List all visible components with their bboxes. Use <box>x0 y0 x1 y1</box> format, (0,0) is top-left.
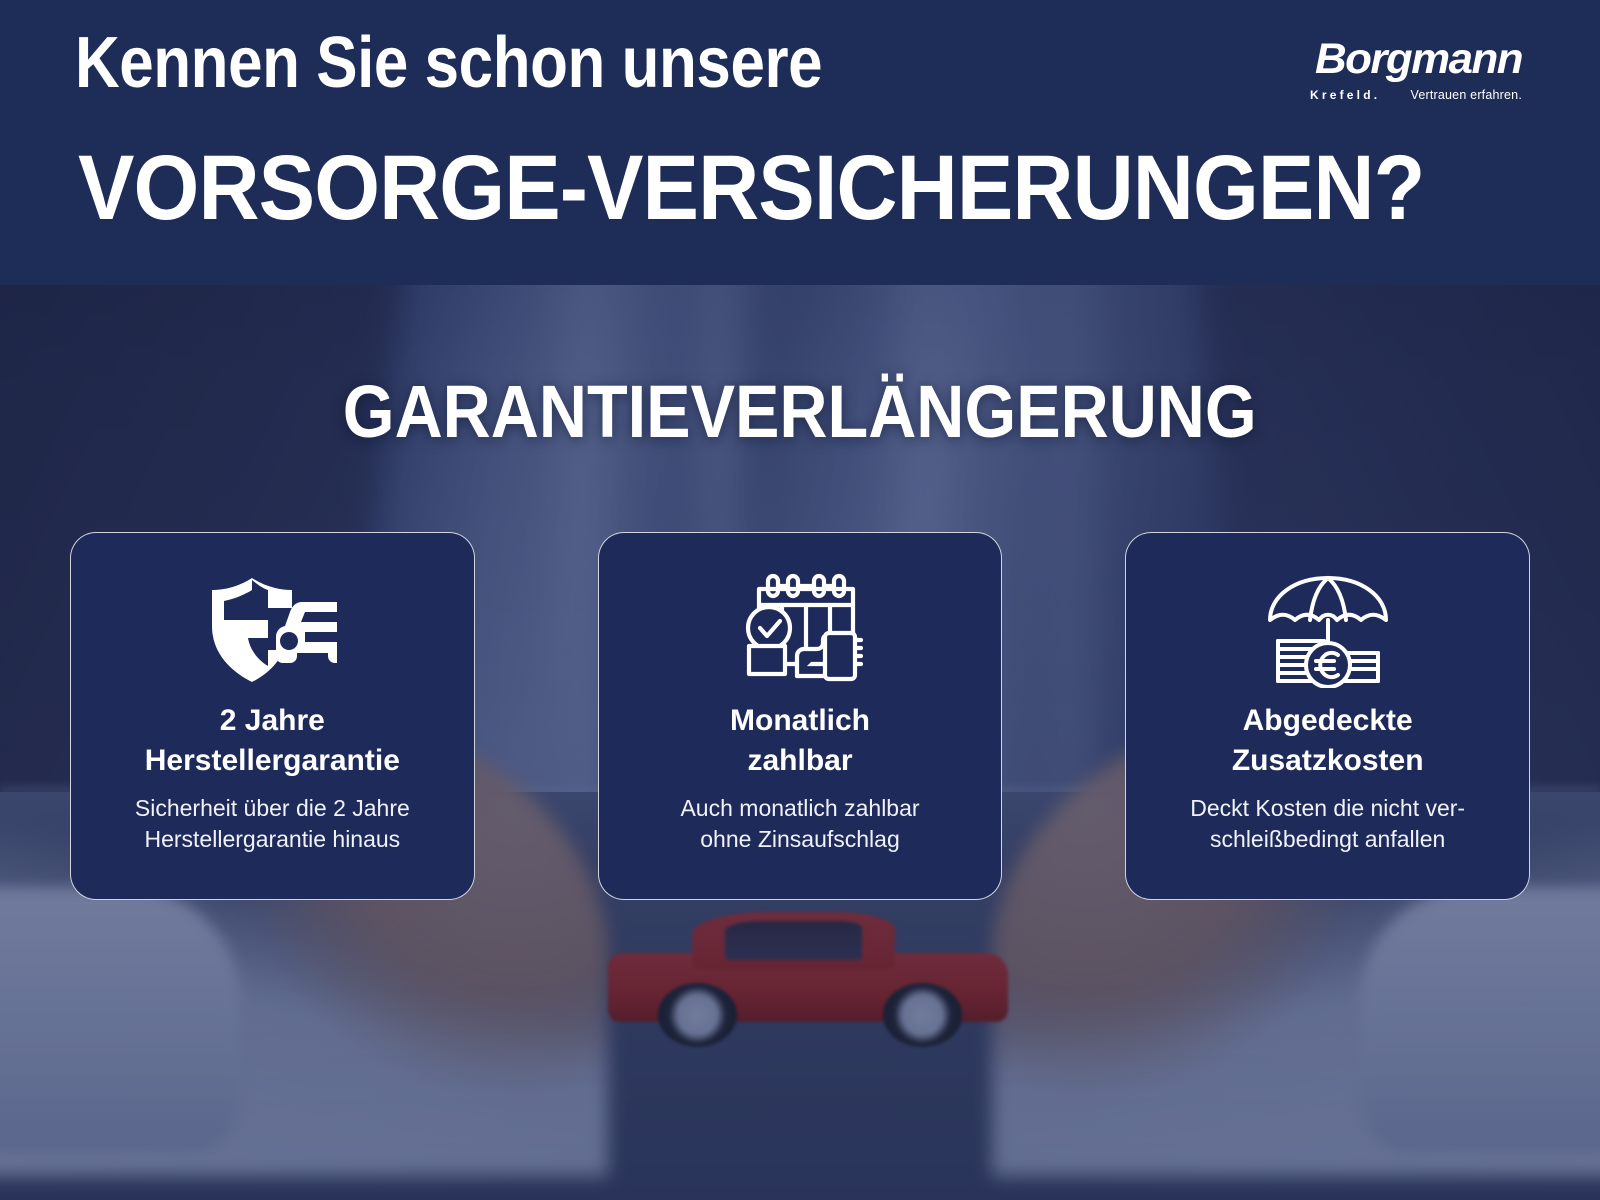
feature-card-description: Auch monatlich zahlbar ohne Zinsaufschla… <box>680 793 919 856</box>
borgmann-logo[interactable]: Borgmann Krefeld. Vertrauen erfahren. <box>1302 38 1522 106</box>
feature-card-description: Deckt Kosten die nicht ver- schleißbedin… <box>1190 793 1465 856</box>
header-line-1: Kennen Sie schon unsere <box>75 27 822 99</box>
feature-card-title: Abgedeckte Zusatzkosten <box>1232 701 1424 780</box>
header-line-2: VORSORGE-VERSICHERUNGEN? <box>78 142 1424 234</box>
logo-tagline: Krefeld. Vertrauen erfahren. <box>1310 86 1522 103</box>
feature-card-warranty[interactable]: 2 Jahre Herstellergarantie Sicherheit üb… <box>70 532 475 900</box>
main-headline: GARANTIEVERLÄNGERUNG <box>0 375 1600 449</box>
logo-tagline-right: Vertrauen erfahren. <box>1410 88 1522 102</box>
feature-card-title: 2 Jahre Herstellergarantie <box>145 701 400 780</box>
feature-card-title: Monatlich zahlbar <box>730 701 870 780</box>
feature-card-extra-costs[interactable]: Abgedeckte Zusatzkosten Deckt Kosten die… <box>1125 532 1530 900</box>
shield-car-icon <box>206 571 338 689</box>
umbrella-euro-coins-icon <box>1264 571 1392 689</box>
promo-banner: Kennen Sie schon unsere VORSORGE-VERSICH… <box>0 0 1600 1200</box>
header-band: Kennen Sie schon unsere VORSORGE-VERSICH… <box>0 0 1600 285</box>
feature-card-monthly-payment[interactable]: Monatlich zahlbar Auch monatlich zahlbar… <box>598 532 1003 900</box>
feature-card-description: Sicherheit über die 2 Jahre Herstellerga… <box>135 793 410 856</box>
main-headline-text: GARANTIEVERLÄNGERUNG <box>343 375 1257 449</box>
logo-tagline-left: Krefeld. <box>1310 88 1380 102</box>
feature-card-list: 2 Jahre Herstellergarantie Sicherheit üb… <box>70 532 1530 900</box>
calendar-check-payment-icon <box>737 571 863 689</box>
logo-wordmark: Borgmann <box>1298 38 1522 81</box>
